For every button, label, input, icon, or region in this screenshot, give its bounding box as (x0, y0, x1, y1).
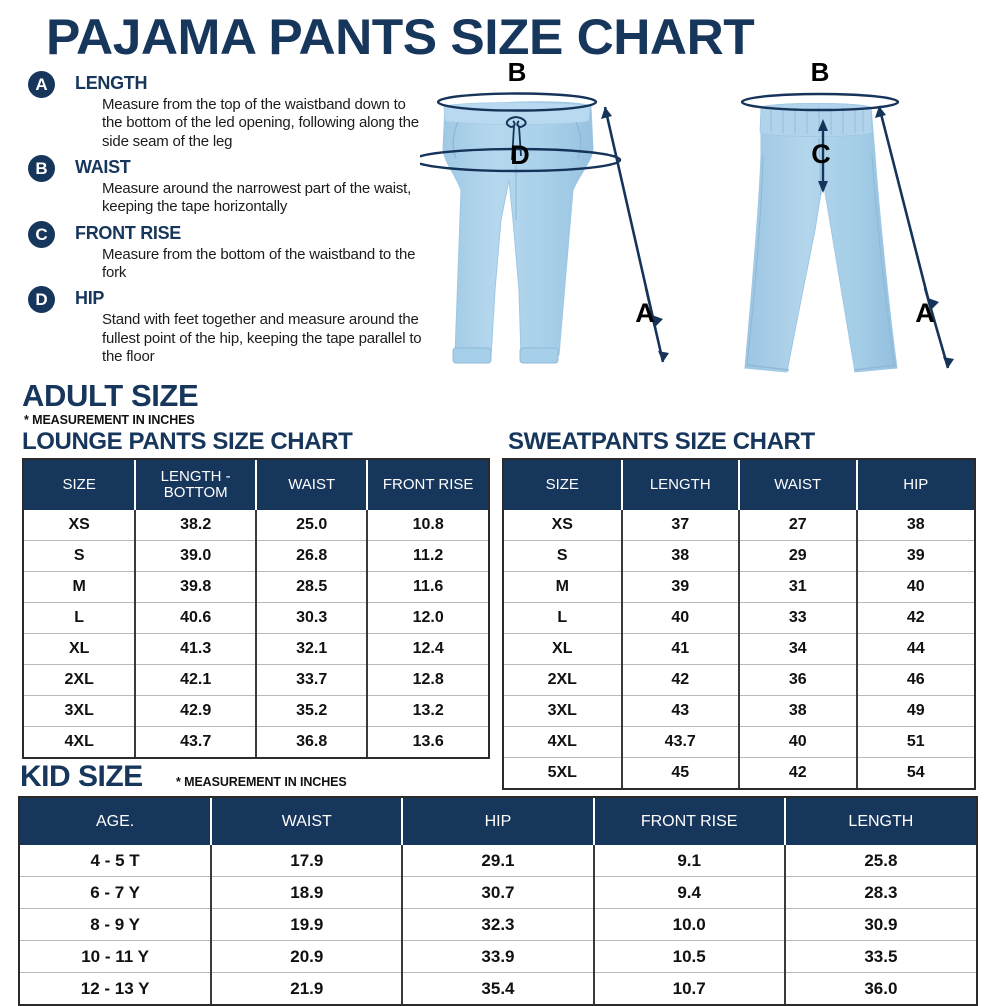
table-header-row: AGE. WAIST HIP FRONT RISE LENGTH (20, 798, 976, 845)
legend-item-front-rise: C FRONT RISE Measure from the bottom of … (28, 220, 428, 283)
lounge-pants-table: SIZE LENGTH -BOTTOM WAIST FRONT RISE XS3… (24, 460, 488, 757)
cell-front-rise: 11.6 (367, 572, 488, 603)
table-row: 5XL454254 (504, 758, 974, 789)
cell-front-rise: 12.8 (367, 665, 488, 696)
cell-waist: 27 (739, 510, 857, 541)
cell-size: L (24, 603, 135, 634)
cell-waist: 33 (739, 603, 857, 634)
cell-size: 3XL (504, 696, 622, 727)
table-row: L40.630.312.0 (24, 603, 488, 634)
straight-pants-illustration: B C A (742, 60, 954, 372)
cell-hip: 46 (857, 665, 975, 696)
legend-desc-waist: Measure around the narrowest part of the… (102, 180, 428, 217)
cell-waist: 28.5 (256, 572, 367, 603)
cell-age: 10 - 11 Y (20, 941, 211, 973)
cell-size: XL (24, 634, 135, 665)
marker-c-right: C (811, 139, 831, 169)
cell-size: 2XL (24, 665, 135, 696)
cell-length: 42 (622, 665, 740, 696)
cell-front-rise: 10.8 (367, 510, 488, 541)
cell-size: XL (504, 634, 622, 665)
badge-a-icon: A (28, 71, 55, 98)
measurement-legend: A LENGTH Measure from the top of the wai… (28, 70, 428, 369)
legend-label-waist: WAIST (75, 154, 428, 180)
cell-waist: 38 (739, 696, 857, 727)
pants-illustration: B D A (420, 60, 990, 400)
kid-measurement-note: * MEASUREMENT IN INCHES (176, 775, 347, 789)
cell-length: 25.8 (785, 845, 976, 877)
cell-size: S (24, 541, 135, 572)
cell-age: 12 - 13 Y (20, 973, 211, 1005)
legend-label-hip: HIP (75, 285, 428, 311)
cell-length: 41 (622, 634, 740, 665)
table-row: 10 - 11 Y20.933.910.533.5 (20, 941, 976, 973)
cell-size: M (504, 572, 622, 603)
cell-length: 39.0 (135, 541, 256, 572)
sweatpants-heading: SWEATPANTS SIZE CHART (508, 430, 815, 454)
col-header-length: LENGTH (622, 460, 740, 510)
cell-front-rise: 10.7 (594, 973, 785, 1005)
cell-waist: 26.8 (256, 541, 367, 572)
cell-size: XS (504, 510, 622, 541)
col-header-age: AGE. (20, 798, 211, 845)
cell-hip: 33.9 (402, 941, 593, 973)
cell-length: 41.3 (135, 634, 256, 665)
legend-desc-front-rise: Measure from the bottom of the waistband… (102, 246, 428, 283)
cell-front-rise: 12.0 (367, 603, 488, 634)
marker-d-left: D (510, 140, 530, 170)
cell-age: 6 - 7 Y (20, 877, 211, 909)
cell-waist: 36 (739, 665, 857, 696)
marker-b-right: B (811, 60, 830, 87)
cell-hip: 35.4 (402, 973, 593, 1005)
col-header-waist: WAIST (256, 460, 367, 510)
cell-front-rise: 13.2 (367, 696, 488, 727)
cell-hip: 39 (857, 541, 975, 572)
cell-waist: 29 (739, 541, 857, 572)
table-row: S39.026.811.2 (24, 541, 488, 572)
cell-size: XS (24, 510, 135, 541)
lounge-pants-table-wrapper: SIZE LENGTH -BOTTOM WAIST FRONT RISE XS3… (22, 458, 490, 759)
cell-length: 28.3 (785, 877, 976, 909)
cell-length: 42.1 (135, 665, 256, 696)
cell-waist: 33.7 (256, 665, 367, 696)
col-header-waist: WAIST (211, 798, 402, 845)
table-row: M39.828.511.6 (24, 572, 488, 603)
table-row: XS38.225.010.8 (24, 510, 488, 541)
cell-length: 38 (622, 541, 740, 572)
kid-size-heading: KID SIZE (20, 762, 143, 792)
cell-size: 5XL (504, 758, 622, 789)
cell-front-rise: 9.1 (594, 845, 785, 877)
table-row: L403342 (504, 603, 974, 634)
cell-waist: 20.9 (211, 941, 402, 973)
cell-length: 33.5 (785, 941, 976, 973)
lounge-pants-heading: LOUNGE PANTS SIZE CHART (22, 430, 352, 454)
cell-waist: 40 (739, 727, 857, 758)
cell-hip: 30.7 (402, 877, 593, 909)
cell-front-rise: 11.2 (367, 541, 488, 572)
cell-hip: 42 (857, 603, 975, 634)
cell-waist: 42 (739, 758, 857, 789)
table-header-row: SIZE LENGTH -BOTTOM WAIST FRONT RISE (24, 460, 488, 510)
col-header-hip: HIP (402, 798, 593, 845)
table-row: 4XL43.736.813.6 (24, 727, 488, 758)
cell-waist: 34 (739, 634, 857, 665)
cell-hip: 32.3 (402, 909, 593, 941)
cell-length: 43.7 (622, 727, 740, 758)
col-header-front-rise: FRONT RISE (594, 798, 785, 845)
table-row: 8 - 9 Y19.932.310.030.9 (20, 909, 976, 941)
legend-item-waist: B WAIST Measure around the narrowest par… (28, 154, 428, 217)
col-header-length: LENGTH (785, 798, 976, 845)
table-row: 4 - 5 T17.929.19.125.8 (20, 845, 976, 877)
table-row: XL41.332.112.4 (24, 634, 488, 665)
cell-waist: 18.9 (211, 877, 402, 909)
cell-waist: 19.9 (211, 909, 402, 941)
table-row: 12 - 13 Y21.935.410.736.0 (20, 973, 976, 1005)
table-row: 6 - 7 Y18.930.79.428.3 (20, 877, 976, 909)
cell-waist: 32.1 (256, 634, 367, 665)
legend-label-length: LENGTH (75, 70, 428, 96)
legend-item-length: A LENGTH Measure from the top of the wai… (28, 70, 428, 151)
cell-length: 43 (622, 696, 740, 727)
table-row: S382939 (504, 541, 974, 572)
col-header-size: SIZE (24, 460, 135, 510)
cell-waist: 30.3 (256, 603, 367, 634)
col-header-front-rise: FRONT RISE (367, 460, 488, 510)
cell-age: 8 - 9 Y (20, 909, 211, 941)
table-row: M393140 (504, 572, 974, 603)
cell-waist: 36.8 (256, 727, 367, 758)
cell-front-rise: 12.4 (367, 634, 488, 665)
table-row: 3XL433849 (504, 696, 974, 727)
cell-front-rise: 9.4 (594, 877, 785, 909)
adult-size-heading: ADULT SIZE (22, 380, 198, 411)
cell-hip: 51 (857, 727, 975, 758)
cell-front-rise: 10.0 (594, 909, 785, 941)
cell-hip: 29.1 (402, 845, 593, 877)
table-row: 3XL42.935.213.2 (24, 696, 488, 727)
cell-length: 45 (622, 758, 740, 789)
cell-length: 39 (622, 572, 740, 603)
size-chart-page: PAJAMA PANTS SIZE CHART A LENGTH Measure… (0, 0, 1000, 1000)
cell-length: 42.9 (135, 696, 256, 727)
legend-item-hip: D HIP Stand with feet together and measu… (28, 285, 428, 366)
cell-length: 39.8 (135, 572, 256, 603)
badge-b-icon: B (28, 155, 55, 182)
kid-size-table-wrapper: AGE. WAIST HIP FRONT RISE LENGTH 4 - 5 T… (18, 796, 978, 1006)
cell-waist: 35.2 (256, 696, 367, 727)
cell-length: 40 (622, 603, 740, 634)
cell-hip: 49 (857, 696, 975, 727)
cell-size: M (24, 572, 135, 603)
cell-size: 2XL (504, 665, 622, 696)
cell-waist: 17.9 (211, 845, 402, 877)
sweatpants-table-wrapper: SIZE LENGTH WAIST HIP XS372738 S382939 M… (502, 458, 976, 790)
table-row: XL413444 (504, 634, 974, 665)
cell-waist: 21.9 (211, 973, 402, 1005)
cell-length: 38.2 (135, 510, 256, 541)
legend-desc-hip: Stand with feet together and measure aro… (102, 311, 428, 366)
cell-hip: 38 (857, 510, 975, 541)
cell-size: 4XL (24, 727, 135, 758)
page-title: PAJAMA PANTS SIZE CHART (46, 12, 754, 62)
col-header-hip: HIP (857, 460, 975, 510)
badge-d-icon: D (28, 286, 55, 313)
col-header-size: SIZE (504, 460, 622, 510)
marker-b-left: B (508, 60, 527, 87)
cell-hip: 40 (857, 572, 975, 603)
cell-hip: 44 (857, 634, 975, 665)
cell-waist: 31 (739, 572, 857, 603)
cell-front-rise: 10.5 (594, 941, 785, 973)
sweatpants-table: SIZE LENGTH WAIST HIP XS372738 S382939 M… (504, 460, 974, 788)
col-header-length-line2: BOTTOM (164, 484, 228, 501)
cell-front-rise: 13.6 (367, 727, 488, 758)
cell-size: 4XL (504, 727, 622, 758)
cell-waist: 25.0 (256, 510, 367, 541)
cell-hip: 54 (857, 758, 975, 789)
cell-size: L (504, 603, 622, 634)
kid-size-table: AGE. WAIST HIP FRONT RISE LENGTH 4 - 5 T… (20, 798, 976, 1004)
col-header-length-bottom: LENGTH -BOTTOM (135, 460, 256, 510)
cell-length: 36.0 (785, 973, 976, 1005)
adult-measurement-note: * MEASUREMENT IN INCHES (24, 413, 195, 427)
legend-label-front-rise: FRONT RISE (75, 220, 428, 246)
marker-a-left: A (635, 298, 655, 328)
cell-length: 43.7 (135, 727, 256, 758)
cell-age: 4 - 5 T (20, 845, 211, 877)
marker-a-right: A (915, 298, 935, 328)
table-row: 2XL42.133.712.8 (24, 665, 488, 696)
table-row: 4XL43.74051 (504, 727, 974, 758)
cell-length: 37 (622, 510, 740, 541)
table-row: XS372738 (504, 510, 974, 541)
cell-size: 3XL (24, 696, 135, 727)
badge-c-icon: C (28, 221, 55, 248)
col-header-length-line1: LENGTH - (161, 468, 231, 485)
legend-desc-length: Measure from the top of the waistband do… (102, 96, 428, 151)
table-row: 2XL423646 (504, 665, 974, 696)
jogger-illustration: B D A (420, 60, 669, 363)
table-header-row: SIZE LENGTH WAIST HIP (504, 460, 974, 510)
cell-length: 40.6 (135, 603, 256, 634)
col-header-waist: WAIST (739, 460, 857, 510)
cell-size: S (504, 541, 622, 572)
cell-length: 30.9 (785, 909, 976, 941)
